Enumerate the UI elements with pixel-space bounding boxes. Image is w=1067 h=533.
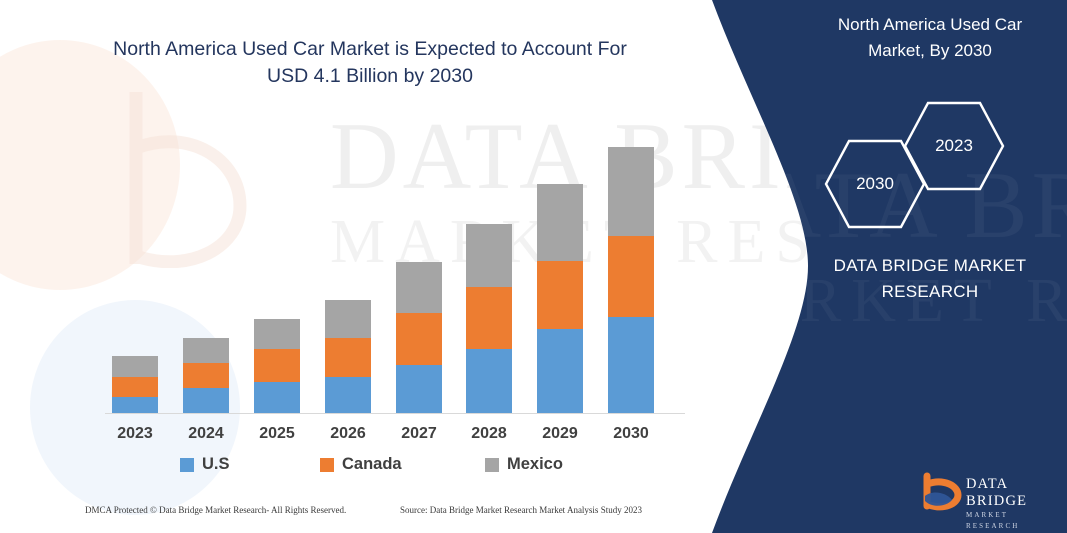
bar-2026: [325, 300, 371, 413]
bar-segment-mexico-2025: [254, 319, 300, 349]
hexagon-group: 2030 2023: [805, 100, 1055, 225]
panel-title-line2: Market, By 2030: [805, 38, 1055, 64]
x-axis-labels: 20232024202520262027202820292030: [85, 425, 685, 449]
bar-segment-us-2030: [608, 317, 654, 413]
bar-2028: [466, 224, 512, 413]
bar-segment-us-2026: [325, 377, 371, 413]
bar-segment-us-2023: [112, 397, 158, 413]
bar-segment-us-2028: [466, 349, 512, 413]
bar-2029: [537, 184, 583, 413]
x-label-2023: 2023: [105, 425, 165, 443]
hexagon-2023-label: 2023: [935, 136, 973, 156]
bar-segment-us-2029: [537, 329, 583, 413]
legend-label-canada: Canada: [342, 455, 402, 474]
infographic-canvas: DATA BRIDGE MARKET RESEARCH North Americ…: [0, 0, 1067, 533]
legend-swatch-canada: [320, 458, 334, 472]
logo-name: DATA BRIDGE: [966, 476, 1060, 510]
stacked-bar-chart: [85, 120, 685, 415]
bar-segment-us-2024: [183, 388, 229, 413]
bar-segment-mexico-2029: [537, 184, 583, 261]
bar-2025: [254, 319, 300, 413]
data-bridge-logo: DATA BRIDGE MARKET RESEARCH: [920, 472, 1060, 516]
x-label-2030: 2030: [601, 425, 661, 443]
bar-segment-mexico-2028: [466, 224, 512, 287]
bar-2027: [396, 262, 442, 413]
bar-segment-mexico-2026: [325, 300, 371, 338]
panel-title: North America Used Car Market, By 2030: [805, 12, 1055, 64]
bar-segment-us-2025: [254, 382, 300, 413]
x-label-2028: 2028: [459, 425, 519, 443]
logo-text: DATA BRIDGE MARKET RESEARCH: [966, 476, 1060, 532]
bar-segment-canada-2023: [112, 377, 158, 397]
bar-segment-mexico-2023: [112, 356, 158, 377]
bar-segment-mexico-2030: [608, 147, 654, 236]
legend-item-canada[interactable]: Canada: [320, 455, 402, 474]
x-label-2024: 2024: [176, 425, 236, 443]
bar-2024: [183, 338, 229, 413]
footer-source-text: Source: Data Bridge Market Research Mark…: [400, 505, 642, 515]
chart-title-line2: USD 4.1 Billion by 2030: [60, 63, 680, 90]
x-axis-line: [105, 413, 685, 414]
panel-title-line1: North America Used Car: [805, 12, 1055, 38]
footer-dmca-text: DMCA Protected © Data Bridge Market Rese…: [85, 505, 346, 515]
x-label-2025: 2025: [247, 425, 307, 443]
x-label-2029: 2029: [530, 425, 590, 443]
panel-brand-line1: DATA BRIDGE MARKET: [802, 253, 1058, 279]
x-label-2027: 2027: [389, 425, 449, 443]
panel-brand: DATA BRIDGE MARKET RESEARCH: [802, 253, 1058, 305]
logo-mark-icon: [920, 472, 964, 514]
legend-swatch-mexico: [485, 458, 499, 472]
panel-brand-line2: RESEARCH: [802, 279, 1058, 305]
legend-label-mexico: Mexico: [507, 455, 563, 474]
legend-item-us[interactable]: U.S: [180, 455, 230, 474]
footer: DMCA Protected © Data Bridge Market Rese…: [0, 505, 700, 529]
logo-subtitle: MARKET RESEARCH: [966, 510, 1060, 532]
right-navy-panel: DATA BRIDGE MARKET RESEARCH North Americ…: [690, 0, 1067, 533]
bar-segment-canada-2026: [325, 338, 371, 377]
chart-title-line1: North America Used Car Market is Expecte…: [60, 36, 680, 63]
bar-2030: [608, 147, 654, 413]
bar-segment-mexico-2027: [396, 262, 442, 313]
bar-segment-canada-2024: [183, 363, 229, 388]
bar-2023: [112, 356, 158, 413]
bar-segment-canada-2030: [608, 236, 654, 317]
legend-label-us: U.S: [202, 455, 230, 474]
bar-segment-canada-2025: [254, 349, 300, 382]
bar-segment-canada-2029: [537, 261, 583, 329]
bar-segment-us-2027: [396, 365, 442, 413]
bar-segment-canada-2027: [396, 313, 442, 365]
chart-title: North America Used Car Market is Expecte…: [60, 36, 680, 90]
hexagon-2023: 2023: [902, 100, 1006, 192]
chart-legend: U.SCanadaMexico: [85, 455, 685, 481]
legend-swatch-us: [180, 458, 194, 472]
bar-segment-canada-2028: [466, 287, 512, 349]
x-label-2026: 2026: [318, 425, 378, 443]
legend-item-mexico[interactable]: Mexico: [485, 455, 563, 474]
hexagon-2030-label: 2030: [856, 174, 894, 194]
bar-segment-mexico-2024: [183, 338, 229, 363]
